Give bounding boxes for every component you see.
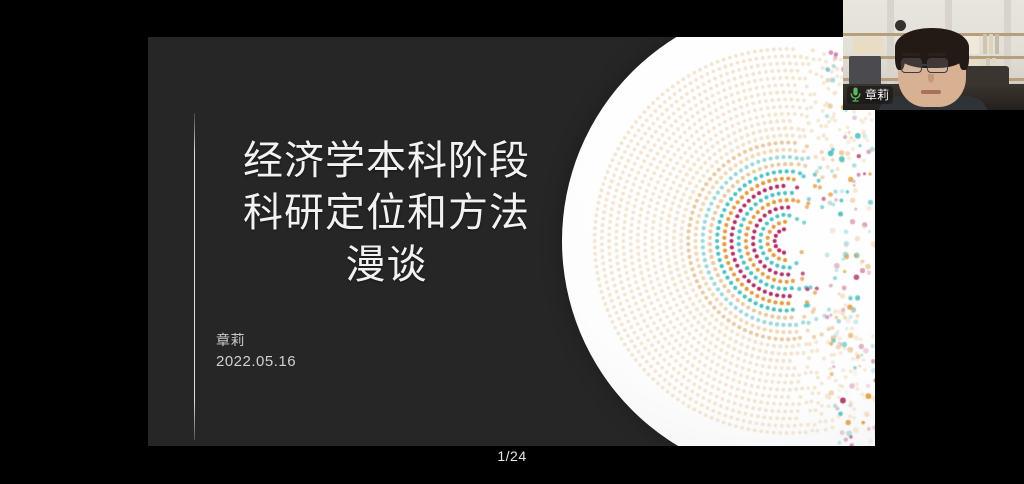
slide-date: 2022.05.16: [216, 351, 296, 373]
screen-sharing-viewport: 经济学本科阶段 科研定位和方法 漫谈 章莉 2022.05.16 1/24: [0, 0, 1024, 484]
participant-name-badge: 章莉: [847, 86, 893, 104]
presenter-mouth: [921, 90, 941, 94]
presenter-hair-side-right: [959, 44, 969, 70]
slide-title: 经济学本科阶段 科研定位和方法 漫谈: [214, 135, 559, 291]
shelf-books-c: [983, 34, 987, 54]
slide-page-indicator: 1/24: [0, 448, 1024, 464]
glasses-lens-right: [927, 58, 948, 73]
shelf-post-left: [887, 0, 894, 96]
shelf-books-e: [995, 34, 999, 54]
microphone-icon: [849, 87, 862, 103]
slide-title-line-2: 科研定位和方法: [214, 187, 559, 239]
glasses-bridge: [922, 64, 927, 66]
shelf-books-a: [853, 37, 883, 54]
slide-decoration-dot-arcs: [562, 37, 875, 446]
shelf-decor-sphere: [895, 20, 906, 31]
presenter-eyebrow-left: [902, 53, 920, 56]
slide-author: 章莉: [216, 329, 296, 351]
slide-title-line-1: 经济学本科阶段: [214, 135, 559, 187]
presentation-slide[interactable]: 经济学本科阶段 科研定位和方法 漫谈 章莉 2022.05.16: [148, 37, 875, 446]
title-accent-rule: [194, 113, 195, 440]
participant-name-label: 章莉: [865, 89, 889, 102]
presenter-eyebrow-right: [928, 53, 946, 56]
presenter-nose: [928, 74, 934, 83]
shelf-books-d: [989, 34, 993, 54]
glasses-lens-left: [901, 58, 922, 73]
desk-monitor: [849, 56, 881, 86]
participant-video-tile[interactable]: 章莉: [843, 0, 1024, 110]
slide-title-line-3: 漫谈: [214, 239, 559, 291]
slide-metadata: 章莉 2022.05.16: [216, 329, 296, 373]
